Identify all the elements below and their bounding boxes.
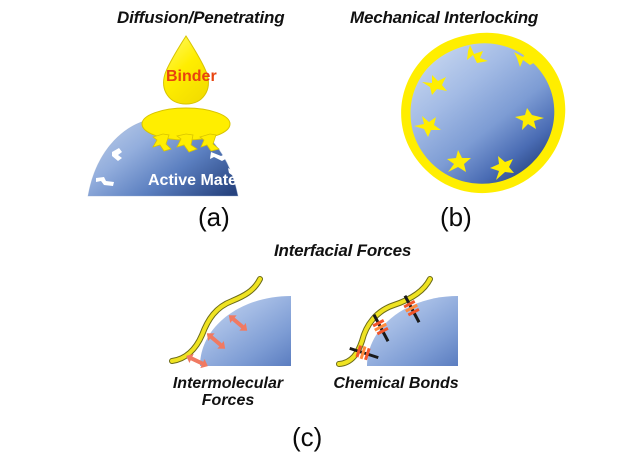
panel-label-a: (a)	[198, 202, 230, 233]
panel-label-b: (b)	[440, 202, 472, 233]
intermolecular-forces-label-line2: Forces	[148, 392, 308, 409]
panel-c-interfacial-forces: Interfacial Forces	[0, 235, 635, 468]
panel-b-illustration	[318, 0, 635, 235]
binder-droplet-label: Binder	[166, 68, 217, 86]
panel-a-diffusion-penetrating: Diffusion/Penetrating	[0, 0, 318, 235]
panel-label-c: (c)	[292, 422, 322, 453]
binder-spread-blob-icon	[142, 108, 230, 152]
chemical-bonds-diagram	[339, 279, 458, 366]
intermolecular-forces-diagram	[172, 279, 291, 371]
intermolecular-forces-label: Intermolecular Forces	[148, 375, 308, 410]
active-material-label: Active Material	[148, 172, 261, 190]
panel-b-mechanical-interlocking: Mechanical Interlocking	[318, 0, 635, 235]
intermolecular-forces-label-line1: Intermolecular	[148, 375, 308, 392]
panel-a-illustration	[0, 0, 318, 235]
binder-adhesion-mechanism-figure: Diffusion/Penetrating	[0, 0, 635, 468]
chemical-bonds-label: Chemical Bonds	[316, 375, 476, 392]
